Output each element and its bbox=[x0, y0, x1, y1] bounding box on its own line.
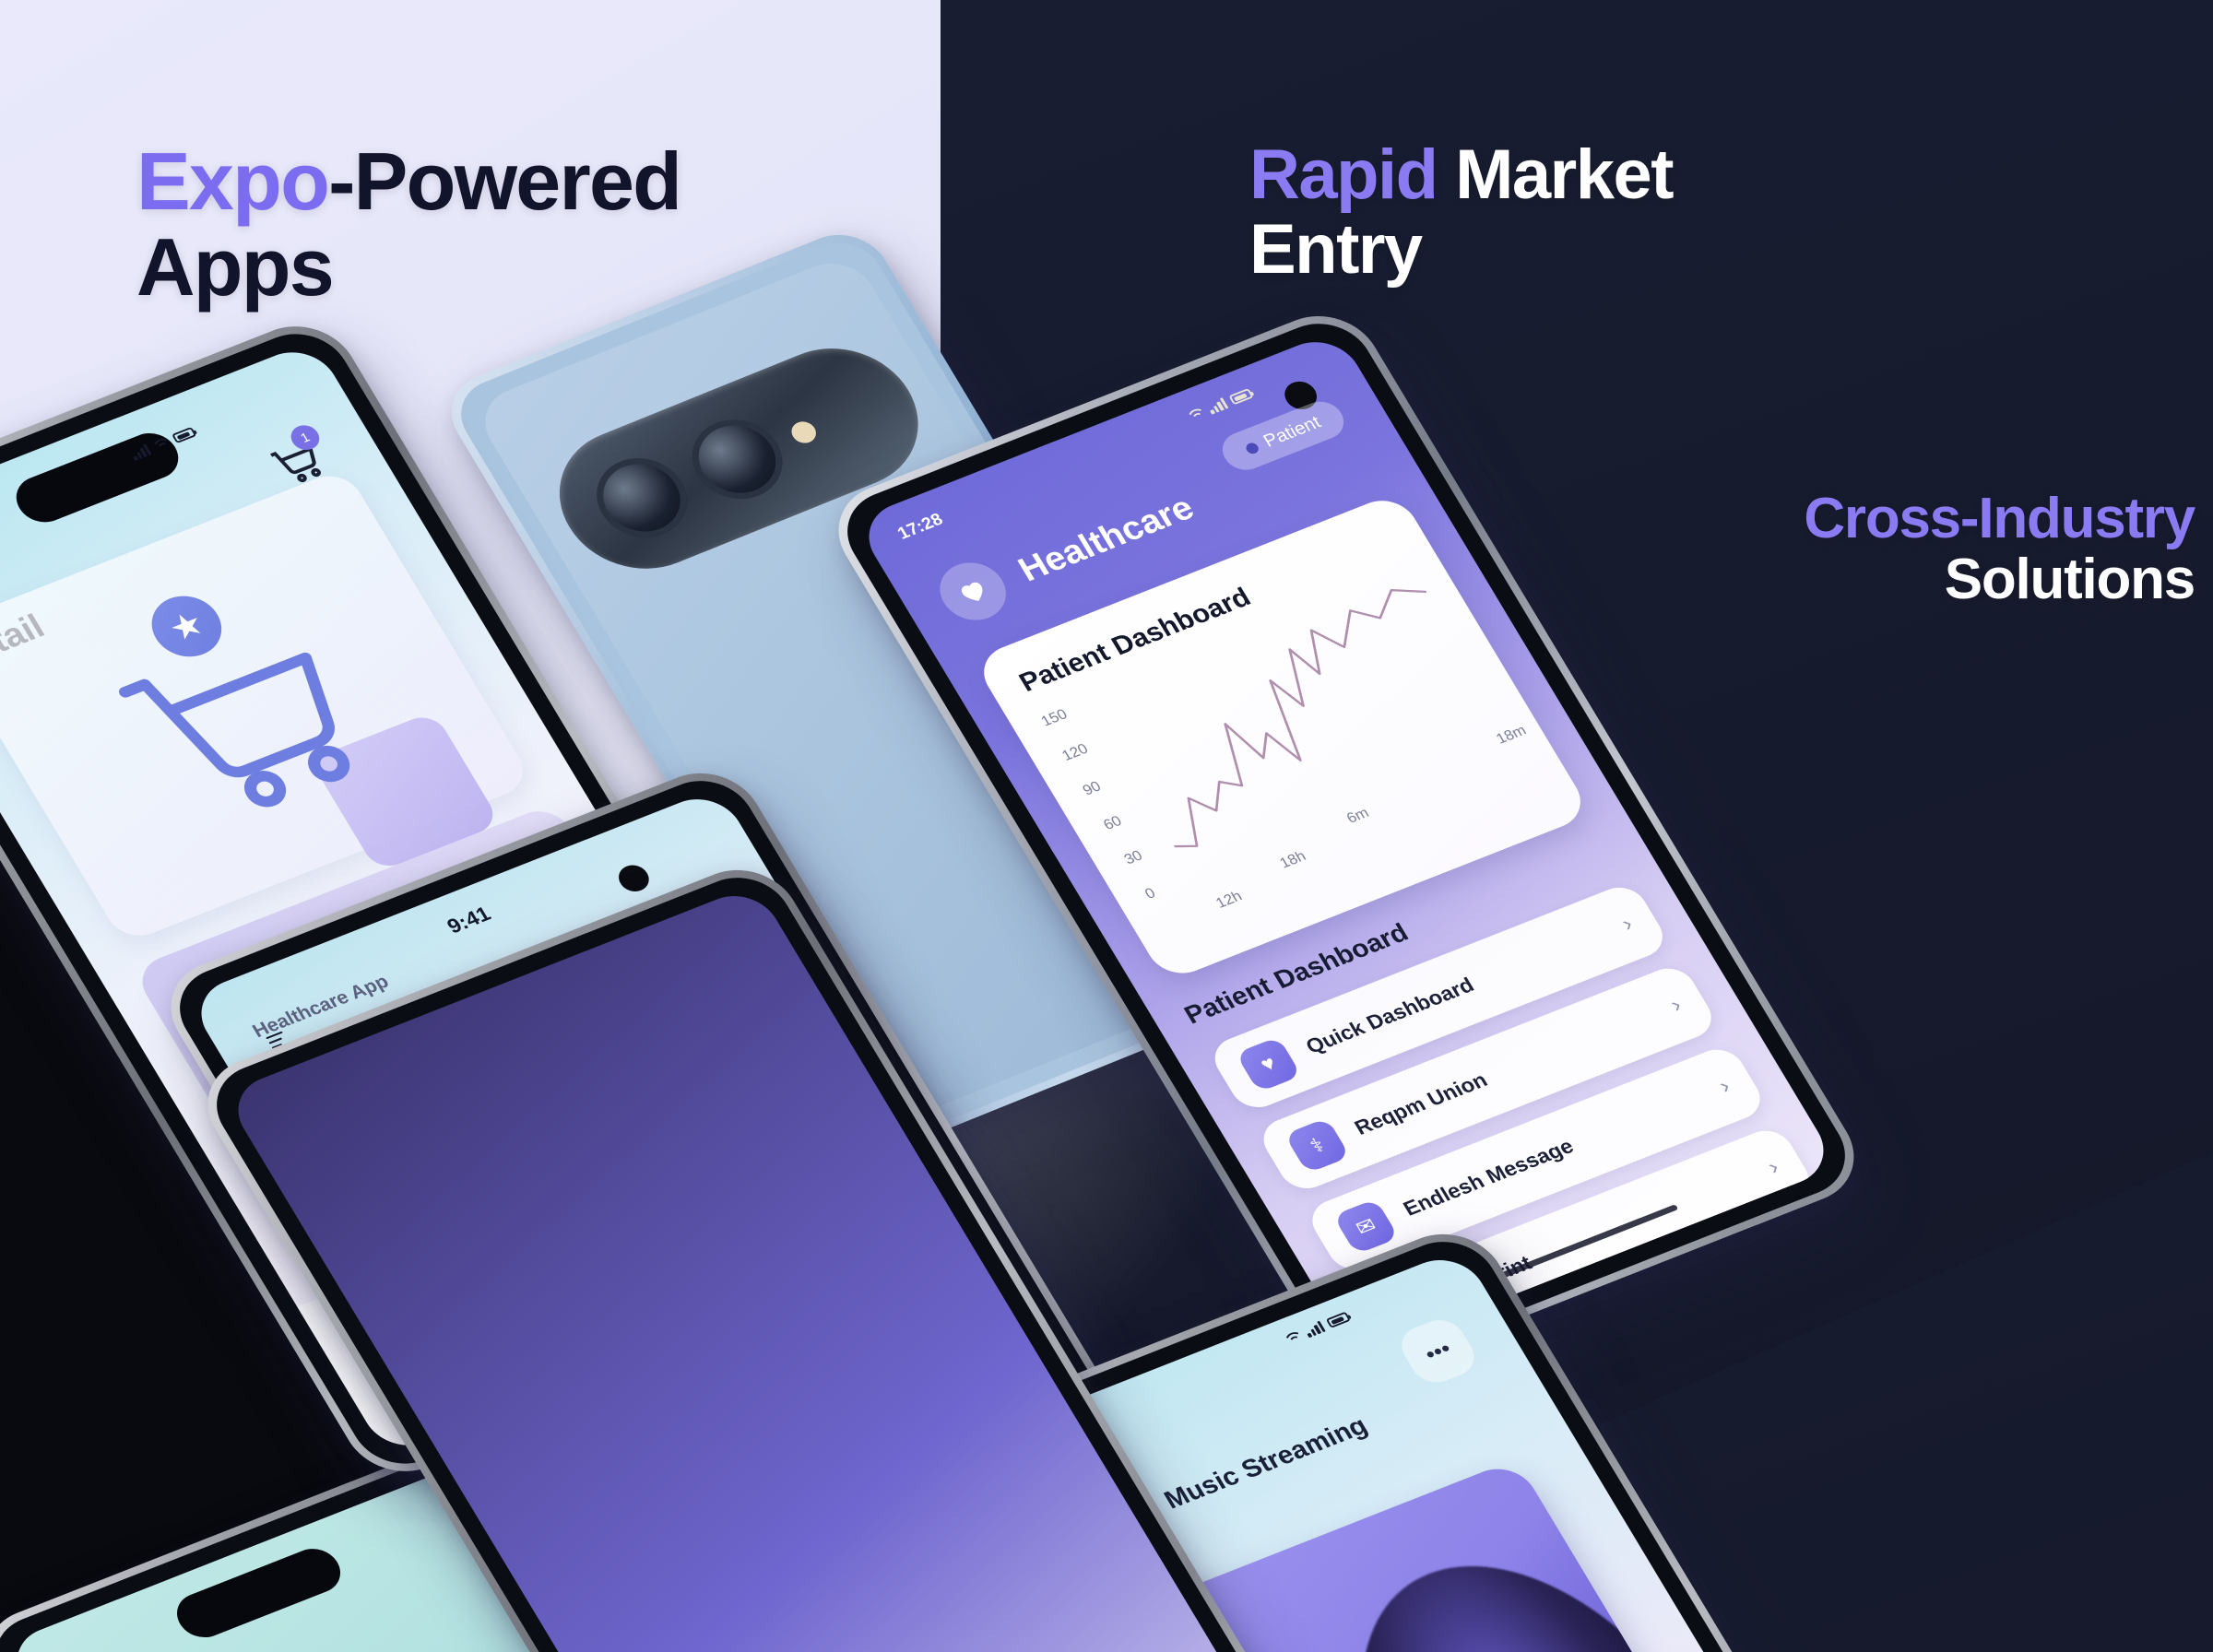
activity-icon: ⚕ bbox=[1284, 1117, 1351, 1174]
y-tick-5: 0 bbox=[1142, 885, 1158, 903]
headline-accent-expo: Expo bbox=[136, 136, 328, 227]
wifi-icon bbox=[1284, 1330, 1304, 1346]
battery-icon bbox=[1326, 1312, 1351, 1328]
headline-cross-industry-solutions: Cross-Industry Solutions bbox=[1651, 489, 2195, 609]
chevron-right-icon: › bbox=[1714, 1072, 1735, 1098]
chevron-right-icon: › bbox=[1762, 1153, 1783, 1179]
headline-rapid-market-entry: Rapid Market Entry bbox=[1249, 138, 1840, 287]
camera-lens-ultrawide bbox=[676, 407, 799, 512]
signal-icon bbox=[1303, 1321, 1326, 1338]
dynamic-island bbox=[168, 1542, 349, 1645]
x-tick-1: 18h bbox=[1277, 848, 1309, 872]
y-tick-3: 60 bbox=[1100, 812, 1125, 833]
more-dots-icon[interactable]: ••• bbox=[1393, 1314, 1483, 1389]
message-icon: ✉ bbox=[1332, 1198, 1399, 1255]
heart-pulse-icon bbox=[929, 554, 1018, 630]
app-title: Healthcare bbox=[1012, 489, 1201, 589]
chevron-right-icon: › bbox=[1616, 910, 1638, 936]
headline-accent-rapid: Rapid bbox=[1249, 136, 1438, 214]
vitals-line-chart: 150 120 90 60 30 0 12h 18h 6m bbox=[1040, 565, 1544, 925]
battery-icon bbox=[172, 427, 196, 443]
y-tick-0: 150 bbox=[1038, 706, 1071, 730]
headline-line2-apps: Apps bbox=[136, 221, 333, 313]
status-dot-icon bbox=[1244, 441, 1260, 454]
headline-rest-market: Market bbox=[1438, 136, 1673, 214]
chevron-right-icon: › bbox=[1665, 991, 1686, 1017]
headline-rest-powered: -Powered bbox=[328, 136, 680, 227]
heart-icon: ♥ bbox=[1236, 1036, 1302, 1092]
page-title: Music Streaming bbox=[1159, 1411, 1373, 1515]
camera-flash-icon bbox=[787, 419, 821, 447]
headline-line2-entry: Entry bbox=[1249, 210, 1422, 289]
poster-canvas: Expo-Powered Apps Rapid Market Entry Cro… bbox=[0, 0, 2213, 1652]
y-tick-4: 30 bbox=[1121, 847, 1146, 868]
y-tick-2: 90 bbox=[1080, 778, 1105, 799]
y-tick-1: 120 bbox=[1059, 740, 1091, 764]
headline-accent-cross-industry: Cross-Industry bbox=[1804, 487, 2195, 550]
camera-lens-wide bbox=[581, 446, 704, 550]
x-tick-0: 12h bbox=[1213, 888, 1245, 912]
status-bar-right bbox=[1283, 1311, 1351, 1346]
headline-line2-solutions: Solutions bbox=[1651, 549, 2195, 610]
